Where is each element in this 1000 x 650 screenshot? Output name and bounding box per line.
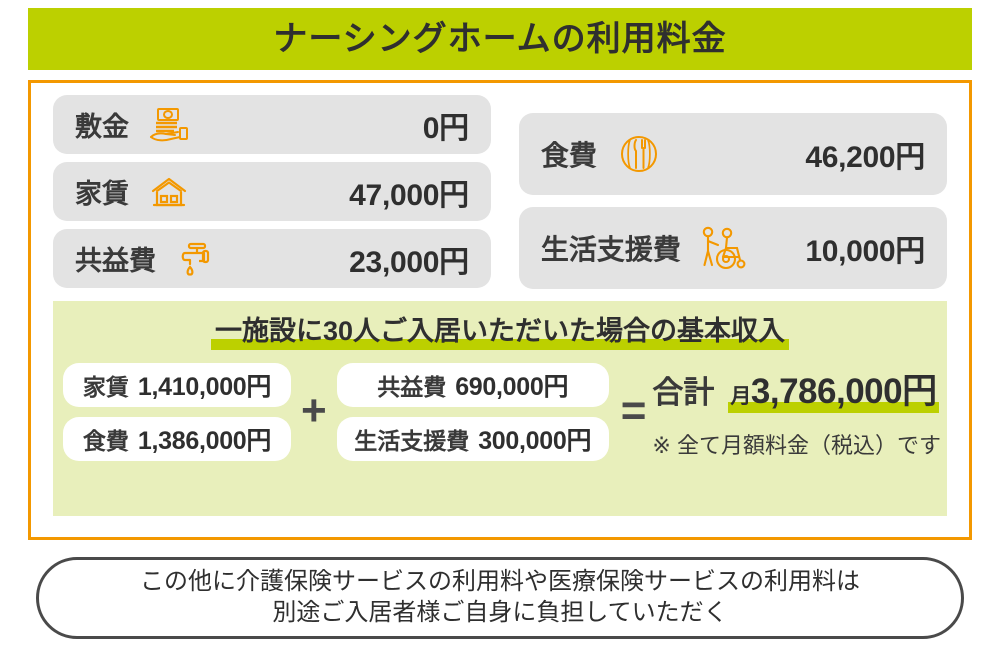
fee-label: 共益費 [75, 239, 156, 278]
summary-panel: 一施設に30人ご入居いただいた場合の基本収入 家賃 1,410,000円 食費 … [53, 301, 947, 516]
tax-note: ※ 全て月額料金（税込）です [652, 428, 941, 460]
pill-value: 1,386,000円 [138, 421, 271, 457]
total-unit: 月 [730, 385, 751, 408]
fee-amount: 46,200円 [805, 132, 925, 176]
fee-row-seikatsushienhi: 生活支援費 [519, 207, 947, 289]
infographic-page: ナーシングホームの利用料金 敷金 [0, 0, 1000, 650]
caregiver-wheelchair-icon [699, 225, 751, 271]
pill-shokuhi: 食費 1,386,000円 [63, 417, 291, 461]
house-icon [147, 174, 191, 210]
total-amount: 月3,786,000円 [730, 372, 936, 411]
fee-amount: 0円 [423, 103, 469, 147]
pill-group-a: 家賃 1,410,000円 食費 1,386,000円 [63, 363, 291, 461]
equals-operator: = [609, 389, 653, 433]
calculation-area: 家賃 1,410,000円 食費 1,386,000円 + 共益費 690,00… [53, 357, 947, 461]
total-block: 合計 月3,786,000円 ※ 全て月額料金（税込）です [652, 363, 941, 460]
fee-amount: 10,000円 [805, 226, 925, 270]
fee-columns: 敷金 0円 [31, 83, 969, 295]
bottom-note-line-2: 別途ご入居者様ご自身に負担していただく [272, 598, 727, 629]
fee-column-left: 敷金 0円 [53, 95, 491, 295]
faucet-icon [174, 240, 218, 278]
money-hand-icon [147, 107, 191, 143]
summary-heading-wrap: 一施設に30人ご入居いただいた場合の基本収入 [53, 309, 947, 357]
fee-label: 生活支援費 [541, 228, 681, 268]
fee-label: 家賃 [75, 172, 129, 211]
pill-label: 共益費 [377, 368, 446, 402]
summary-heading: 一施設に30人ご入居いただいた場合の基本収入 [211, 309, 789, 353]
fee-column-right: 食費 46,200円 生活支援費 [519, 95, 947, 295]
fee-label: 食費 [541, 134, 597, 174]
pill-label: 家賃 [83, 368, 129, 402]
total-line: 合計 月3,786,000円 [652, 363, 941, 414]
bottom-note-line-1: この他に介護保険サービスの利用料や医療保険サービスの利用料は [140, 567, 860, 598]
pill-kyoekihi: 共益費 690,000円 [337, 363, 609, 407]
pill-value: 300,000円 [478, 421, 591, 457]
fee-row-kyoekihi: 共益費 23,000円 [53, 229, 491, 288]
pill-label: 生活支援費 [354, 422, 469, 456]
fee-amount: 23,000円 [349, 237, 469, 281]
summary-heading-text: 一施設に30人ご入居いただいた場合の基本収入 [215, 316, 785, 346]
pill-label: 食費 [83, 422, 129, 456]
fee-row-shikikin: 敷金 0円 [53, 95, 491, 154]
fee-row-yachin: 家賃 47,000円 [53, 162, 491, 221]
pill-value: 690,000円 [455, 367, 568, 403]
total-amount-wrap: 月3,786,000円 [728, 363, 938, 414]
pill-seikatsushienhi: 生活支援費 300,000円 [337, 417, 609, 461]
pill-yachin: 家賃 1,410,000円 [63, 363, 291, 407]
fee-amount: 47,000円 [349, 170, 469, 214]
page-title: ナーシングホームの利用料金 [273, 22, 726, 56]
fee-row-shokuhi: 食費 46,200円 [519, 113, 947, 195]
title-banner: ナーシングホームの利用料金 [28, 8, 972, 70]
bottom-note-box: この他に介護保険サービスの利用料や医療保険サービスの利用料は 別途ご入居者様ご自… [36, 557, 964, 639]
fee-label: 敷金 [75, 105, 129, 144]
total-amount-value: 3,786,000円 [751, 372, 937, 411]
plate-cutlery-icon [615, 130, 663, 178]
pill-group-b: 共益費 690,000円 生活支援費 300,000円 [337, 363, 609, 461]
pill-value: 1,410,000円 [138, 367, 271, 403]
plus-operator: + [291, 389, 337, 433]
fee-panel: 敷金 0円 [28, 80, 972, 540]
total-label: 合計 [652, 367, 714, 412]
